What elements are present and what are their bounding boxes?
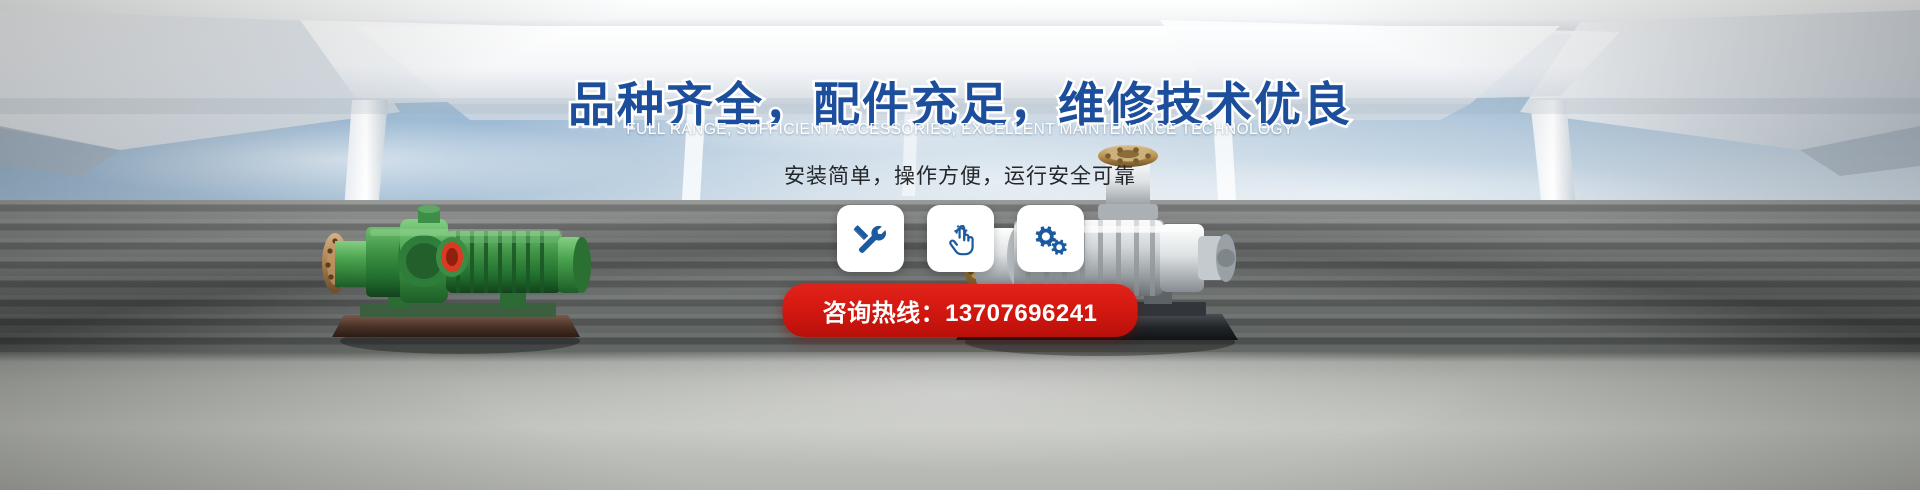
hand-tap-icon-box[interactable] [927,205,994,272]
banner-english-subtitle: FULL RANGE, SUFFICIENT ACCESSORIES, EXCE… [0,121,1920,139]
gears-icon [1031,220,1069,258]
tools-icon [851,220,889,258]
hotline-bar[interactable]: 咨询热线：13707696241 [783,284,1138,337]
feature-icon-row [0,205,1920,272]
hand-tap-icon [941,220,979,258]
gears-icon-box[interactable] [1017,205,1084,272]
tools-icon-box[interactable] [837,205,904,272]
banner-content: 品种齐全，配件充足，维修技术优良 FULL RANGE, SUFFICIENT … [0,0,1920,490]
promo-banner: 品种齐全，配件充足，维修技术优良 FULL RANGE, SUFFICIENT … [0,0,1920,490]
banner-chinese-subtitle: 安装简单，操作方便，运行安全可靠 [0,160,1920,190]
